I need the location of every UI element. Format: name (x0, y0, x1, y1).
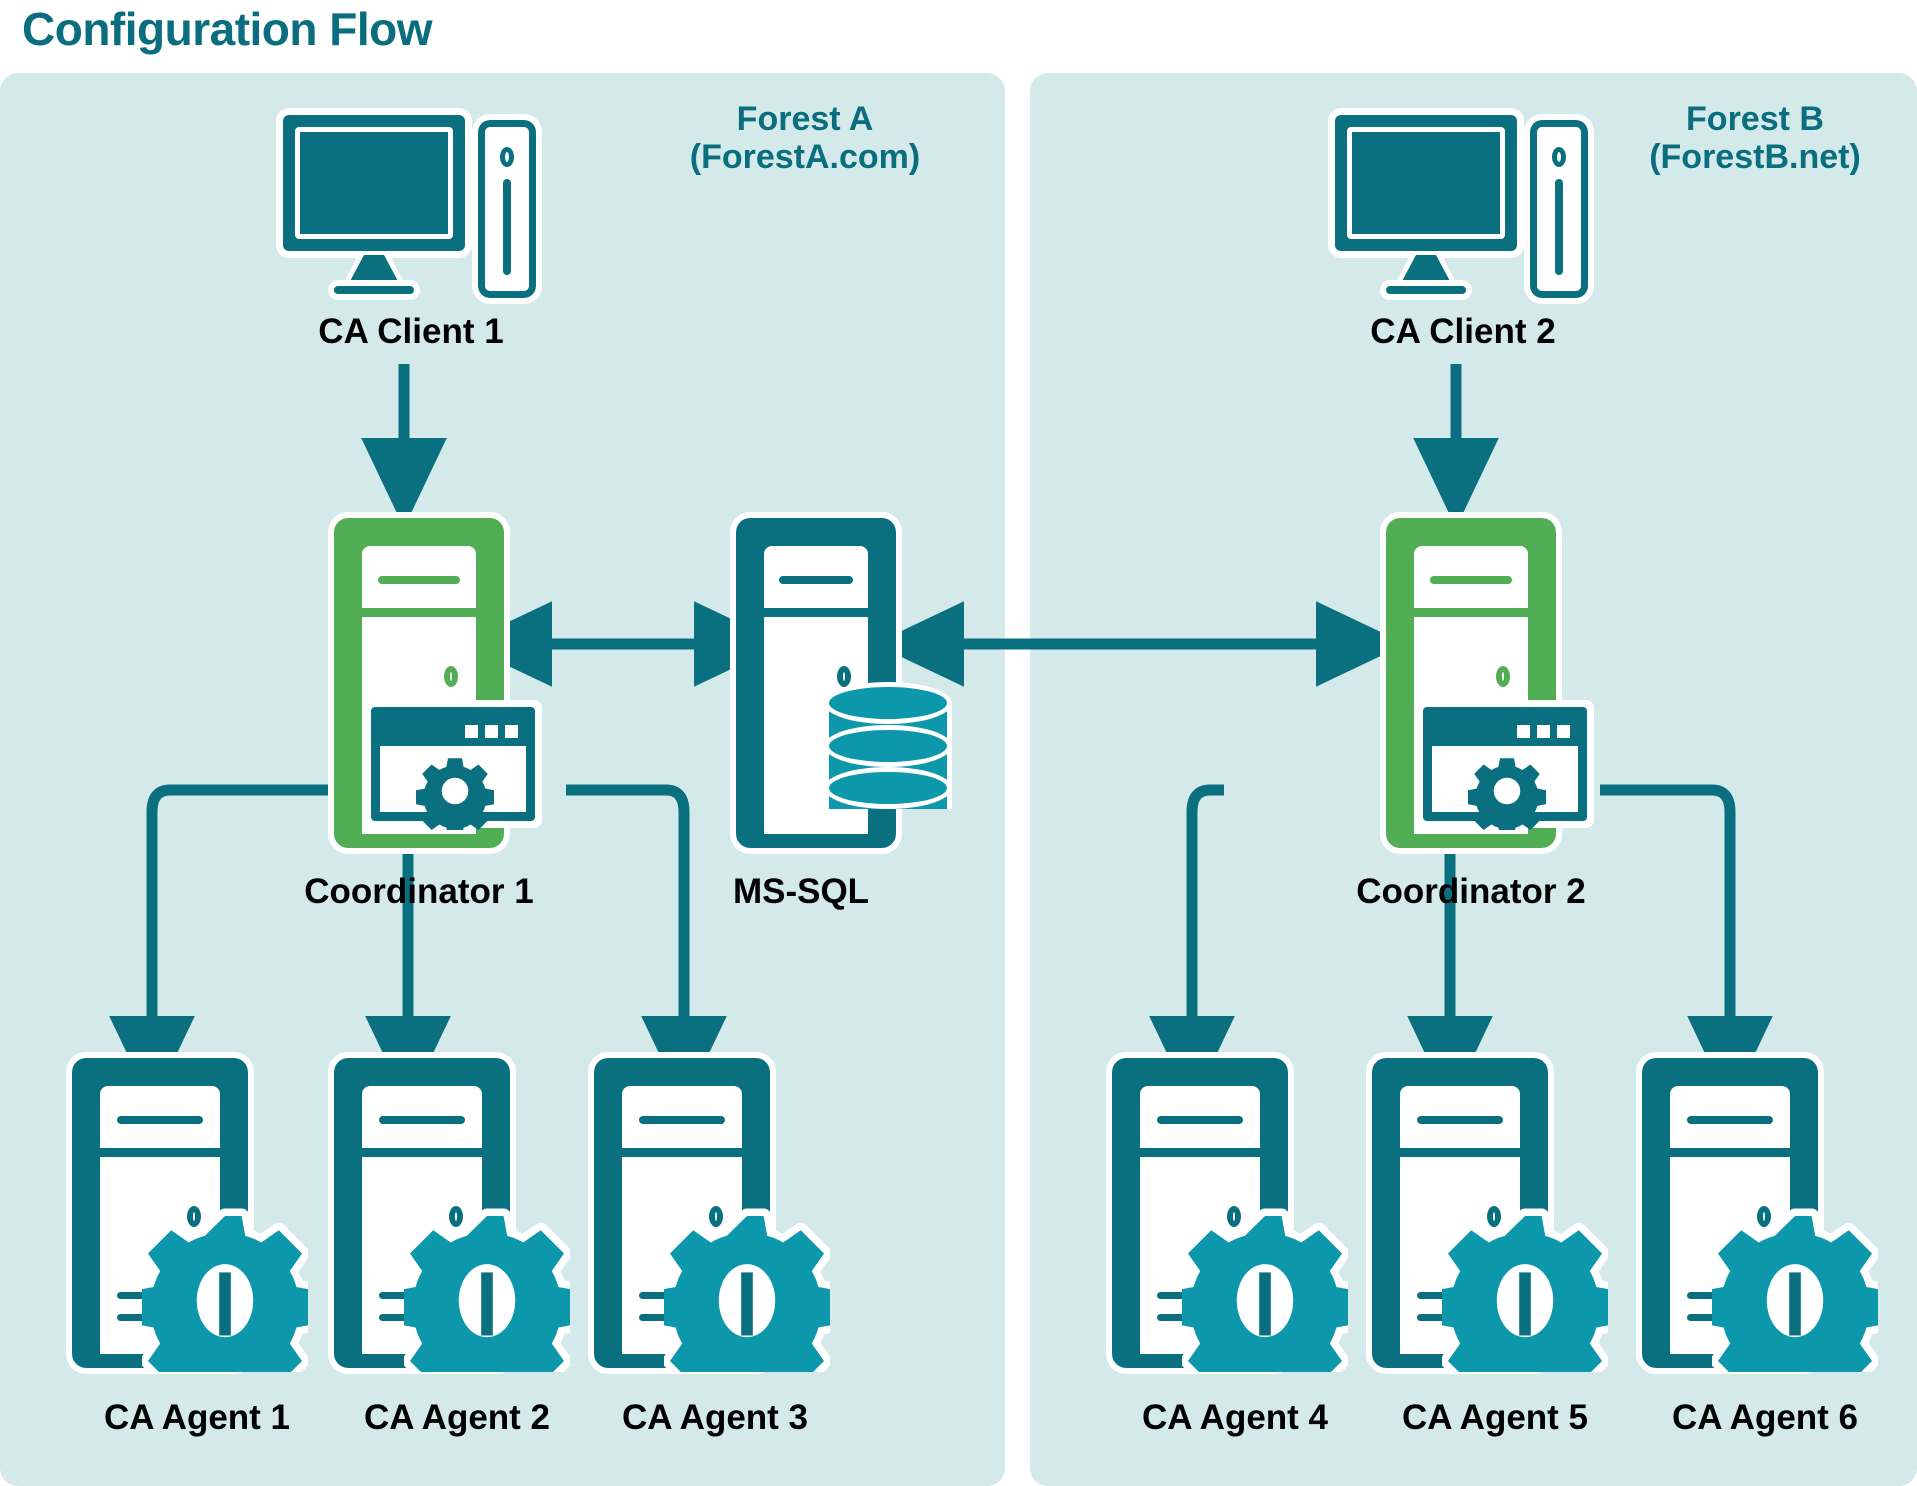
monitor-screen (1347, 127, 1505, 239)
ca-client-2-label: CA Client 2 (1248, 312, 1678, 352)
panel-divider (622, 1148, 742, 1157)
drive-slot (117, 1116, 203, 1124)
drive-slot (1157, 1116, 1243, 1124)
forest-a-name: Forest A (600, 100, 1010, 138)
drive-slot (1417, 1116, 1503, 1124)
gear-icon (404, 1206, 570, 1372)
ca-agent-5[interactable] (1372, 1058, 1548, 1368)
panel-divider (1670, 1148, 1790, 1157)
ca-agent-3[interactable] (594, 1058, 770, 1368)
gear-icon (1442, 1206, 1608, 1372)
coordinator-1-label: Coordinator 1 (204, 872, 634, 912)
power-button-icon (1552, 147, 1566, 167)
drive-slot (779, 576, 854, 584)
power-button-icon (500, 147, 514, 167)
ca-agent-1[interactable] (72, 1058, 248, 1368)
diagram-canvas: Configuration Flow Forest A (ForestA.com… (0, 0, 1917, 1486)
window-maximize-icon[interactable] (485, 725, 498, 738)
forest-a-domain: (ForestA.com) (600, 138, 1010, 176)
ca-agent-2[interactable] (334, 1058, 510, 1368)
panel-divider (362, 1148, 482, 1157)
gear-icon (1712, 1206, 1878, 1372)
ca-agent-4[interactable] (1112, 1058, 1288, 1368)
window-titlebar (380, 716, 526, 746)
gear-icon (142, 1206, 308, 1372)
window-frame (371, 707, 535, 821)
panel-divider (764, 608, 868, 617)
computer-tower-icon (478, 120, 536, 298)
monitor-icon (276, 108, 472, 258)
window-close-icon[interactable] (1557, 725, 1570, 738)
window-maximize-icon[interactable] (1537, 725, 1550, 738)
forest-b-domain: (ForestB.net) (1590, 138, 1917, 176)
panel-divider (1140, 1148, 1260, 1157)
power-button-icon (444, 666, 458, 687)
coordinator-2-gear-window[interactable] (1416, 700, 1594, 828)
window-titlebar (1432, 716, 1578, 746)
monitor-icon (1328, 108, 1524, 258)
db-ring-2 (824, 725, 952, 767)
window-close-icon[interactable] (505, 725, 518, 738)
forest-b-label: Forest B (ForestB.net) (1590, 100, 1917, 176)
panel-divider (100, 1148, 220, 1157)
database-icon (824, 682, 952, 830)
monitor-base (328, 280, 420, 300)
drive-slot (378, 576, 460, 584)
forest-b-name: Forest B (1590, 100, 1917, 138)
coordinator-2-label: Coordinator 2 (1256, 872, 1686, 912)
power-button-icon (1496, 666, 1510, 687)
drive-slot (379, 1116, 465, 1124)
drive-slot (1687, 1116, 1773, 1124)
window-minimize-icon[interactable] (465, 725, 478, 738)
forest-a-label: Forest A (ForestA.com) (600, 100, 1010, 176)
ca-client-2[interactable] (1328, 108, 1596, 308)
ca-agent-6-label: CA Agent 6 (1550, 1398, 1917, 1438)
gear-icon (1468, 752, 1546, 830)
drive-slot (1430, 576, 1512, 584)
coordinator-1-gear-window[interactable] (364, 700, 542, 828)
ms-sql-label: MS-SQL (636, 872, 966, 912)
page-title: Configuration Flow (22, 2, 432, 56)
db-ring-3 (824, 767, 952, 809)
panel-divider (1414, 608, 1528, 617)
db-ring-1 (824, 682, 952, 724)
monitor-base (1380, 280, 1472, 300)
panel-divider (362, 608, 476, 617)
ca-agent-6[interactable] (1642, 1058, 1818, 1368)
tower-slot (1555, 179, 1563, 275)
ca-client-1-label: CA Client 1 (196, 312, 626, 352)
window-controls[interactable] (1517, 725, 1570, 738)
gear-icon (416, 752, 494, 830)
ca-agent-3-label: CA Agent 3 (500, 1398, 930, 1438)
panel-divider (1400, 1148, 1520, 1157)
monitor-screen (295, 127, 453, 239)
window-frame (1423, 707, 1587, 821)
gear-icon (1182, 1206, 1348, 1372)
window-controls[interactable] (465, 725, 518, 738)
window-minimize-icon[interactable] (1517, 725, 1530, 738)
gear-icon (664, 1206, 830, 1372)
computer-tower-icon (1530, 120, 1588, 298)
ca-client-1[interactable] (276, 108, 544, 308)
drive-slot (639, 1116, 725, 1124)
tower-slot (503, 179, 511, 275)
